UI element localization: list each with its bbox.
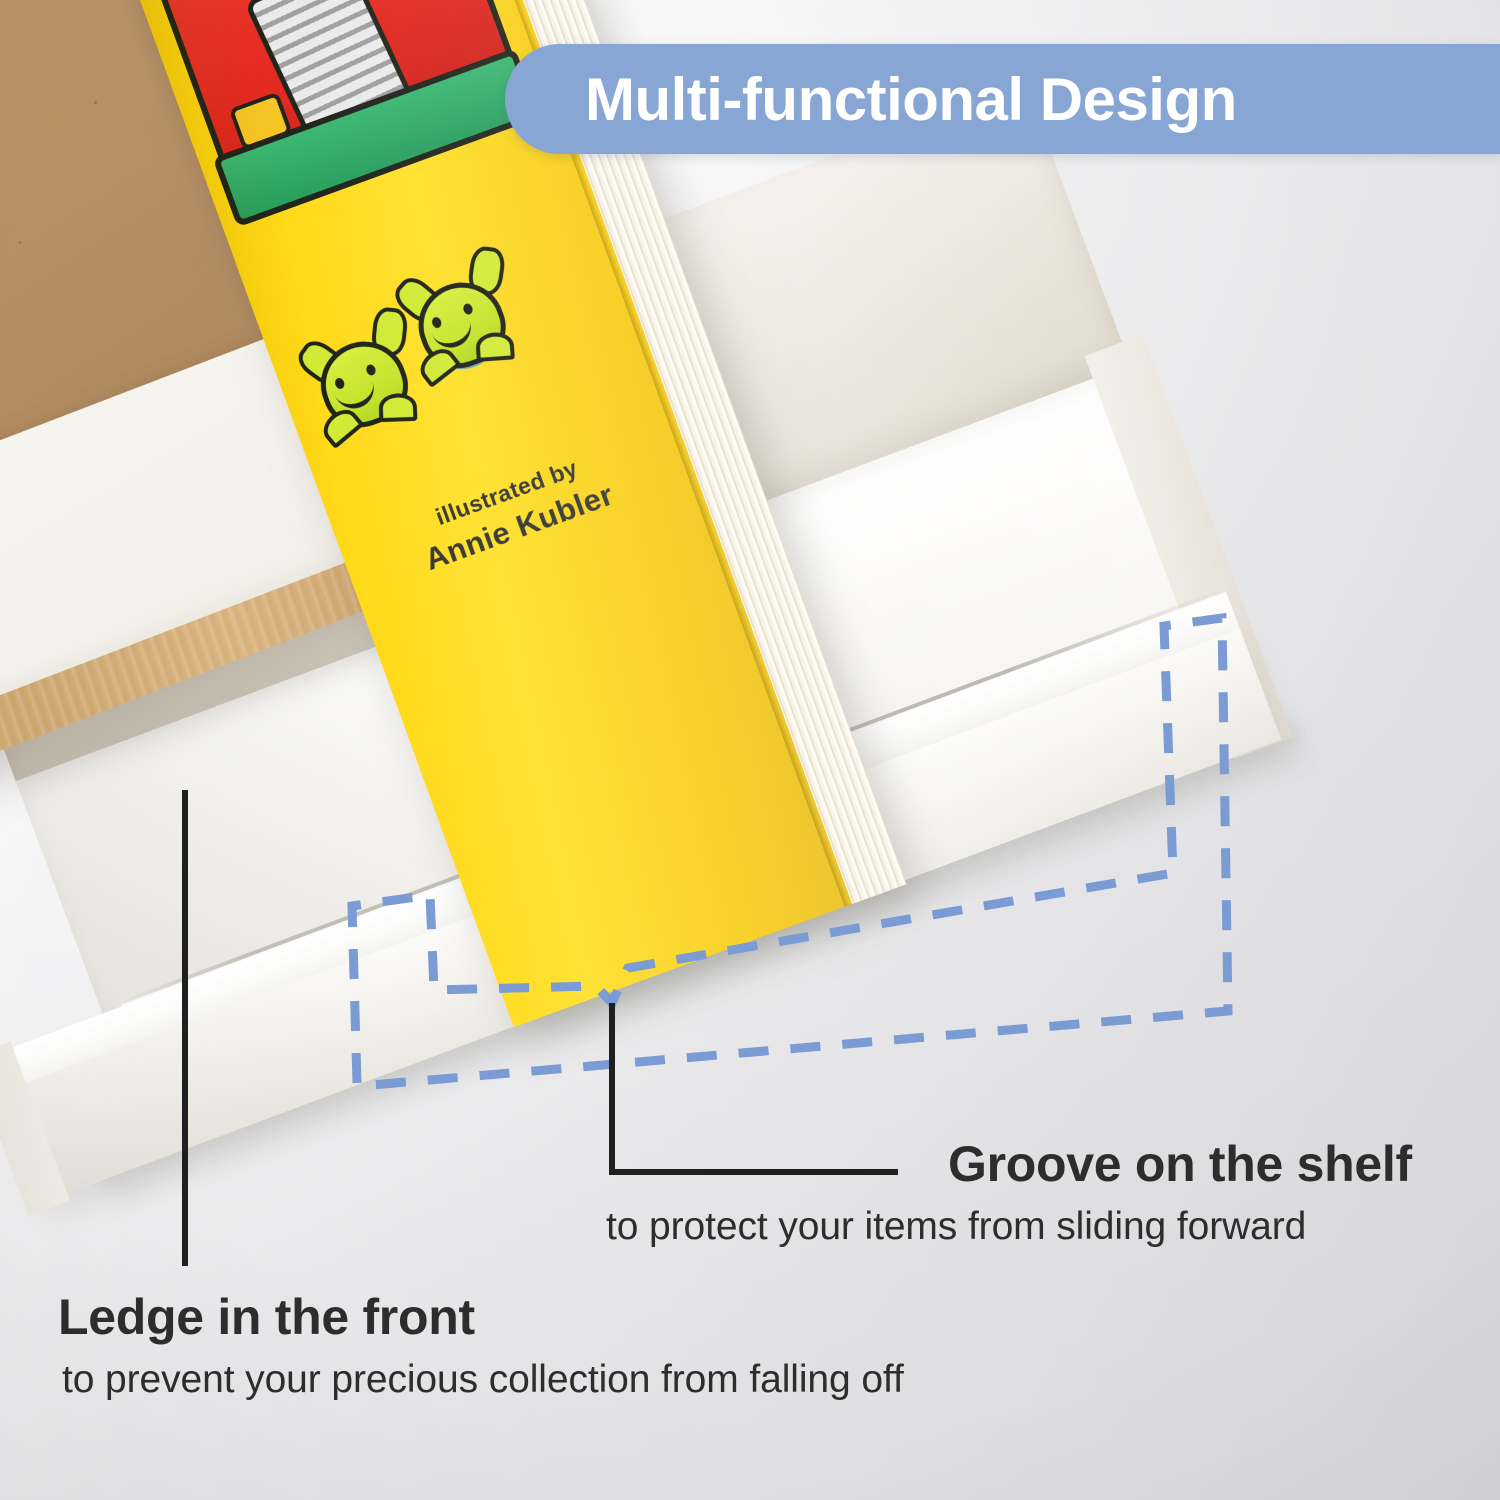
headline-banner: Multi-functional Design <box>505 44 1500 154</box>
callout-groove-subtitle: to protect your items from sliding forwa… <box>606 1205 1412 1249</box>
product-feature-image: illustrated by Annie Kubler Multi-functi… <box>0 0 1500 1500</box>
image-vignette <box>0 0 1500 1500</box>
callout-groove: Groove on the shelf to protect your item… <box>948 1135 1412 1249</box>
callout-ledge: Ledge in the front to prevent your preci… <box>58 1288 904 1402</box>
callout-ledge-subtitle: to prevent your precious collection from… <box>62 1358 904 1402</box>
headline-title: Multi-functional Design <box>585 65 1237 134</box>
callout-groove-title: Groove on the shelf <box>948 1135 1412 1193</box>
callout-ledge-title: Ledge in the front <box>58 1288 904 1346</box>
